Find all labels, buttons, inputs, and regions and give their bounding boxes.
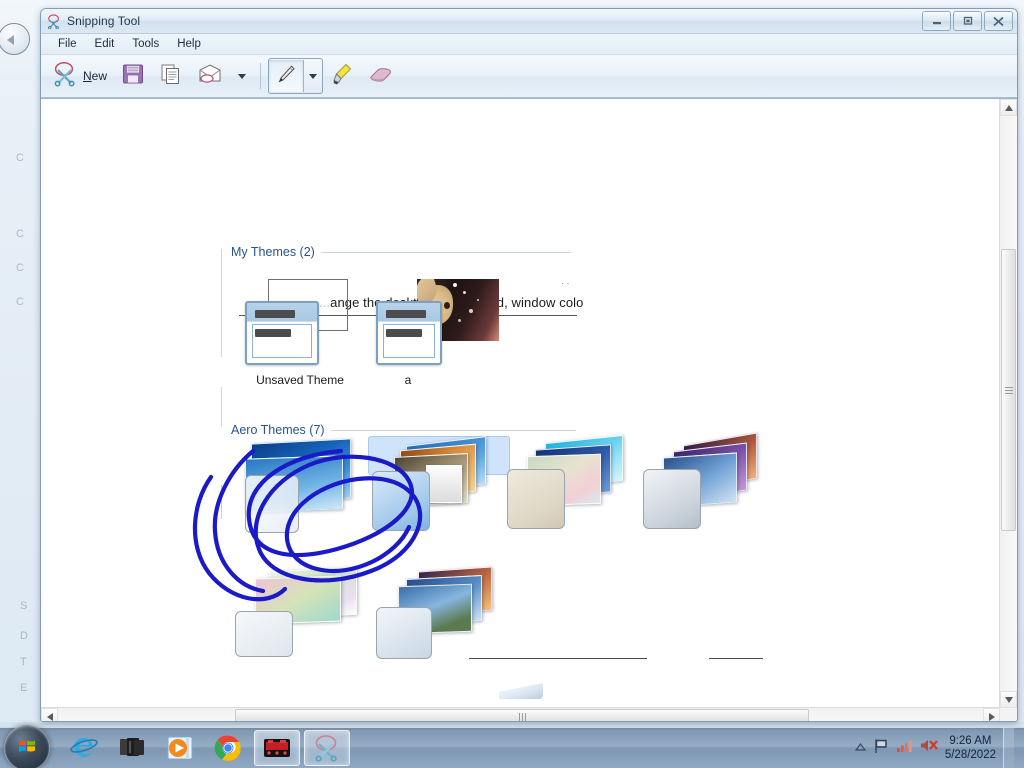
menu-item-help[interactable]: Help — [168, 36, 210, 52]
theme-tile-characters[interactable]: Characters — [507, 439, 639, 467]
pen-tool-group — [268, 58, 323, 94]
snipping-tool-window[interactable]: Snipping Tool File Edit Tools Help — [40, 8, 1018, 722]
action-center-flag-icon[interactable] — [873, 738, 889, 759]
chevron-down-icon — [309, 74, 317, 79]
canvas-area: ˙˙ ...ange the desktop background, windo… — [41, 98, 1017, 722]
highlighter-button[interactable] — [325, 58, 359, 94]
section-title-my-themes: My Themes (2) — [231, 245, 321, 259]
theme-thumbnail — [238, 275, 362, 367]
floppy-disk-icon — [121, 62, 145, 91]
volume-muted-icon[interactable] — [920, 738, 938, 758]
menu-bar: File Edit Tools Help — [41, 34, 1017, 55]
theme-label-unsaved: Unsaved Theme — [238, 373, 362, 387]
taskbar-clock[interactable]: 9:26 AM 5/28/2022 — [945, 734, 996, 762]
show-desktop-button[interactable] — [1003, 728, 1014, 768]
theme-thumbnail — [507, 439, 631, 531]
media-player-icon — [165, 734, 195, 762]
send-snip-dropdown[interactable] — [231, 58, 253, 94]
title-bar[interactable]: Snipping Tool — [41, 9, 1017, 34]
chevron-down-icon — [238, 74, 246, 79]
captured-image: ˙˙ ...ange the desktop background, windo… — [41, 99, 1000, 708]
capture-bottom-shape — [499, 683, 543, 699]
theme-front-card — [643, 469, 701, 529]
eraser-button[interactable] — [361, 58, 401, 94]
theme-thumbnail — [372, 441, 496, 533]
system-tray: 9:26 AM 5/28/2022 — [855, 728, 1022, 768]
show-hidden-icons-button[interactable] — [855, 739, 866, 757]
network-signal-icon[interactable] — [896, 738, 913, 758]
red-app-icon — [261, 736, 293, 760]
copy-button[interactable] — [153, 58, 189, 94]
taskbar-windows-media-player[interactable] — [158, 731, 202, 765]
taskbar-app-buttons — [62, 730, 350, 766]
theme-thumbnail — [376, 569, 500, 661]
capture-bottom-rule-1 — [469, 658, 647, 659]
section-left-bar-my-themes — [221, 249, 222, 357]
new-snip-button[interactable]: New — [47, 58, 113, 94]
taskbar-snipping-tool[interactable] — [304, 730, 350, 766]
section-title-aero-themes: Aero Themes (7) — [231, 423, 331, 437]
theme-tile-architecture[interactable]: Architecture — [368, 436, 510, 475]
close-button[interactable] — [984, 11, 1013, 31]
folder-stack-icon — [116, 735, 148, 761]
clock-time: 9:26 AM — [945, 734, 996, 748]
theme-label-a: a — [378, 373, 438, 387]
section-left-bar-my-themes-2 — [221, 387, 222, 427]
taskbar-windows-explorer[interactable] — [110, 731, 154, 765]
scroll-left-button[interactable] — [41, 708, 58, 722]
horizontal-scroll-thumb[interactable] — [235, 709, 809, 722]
theme-thumbnail — [374, 275, 498, 367]
window-controls — [922, 11, 1013, 31]
copy-pages-icon — [159, 62, 183, 91]
window-glyph-icon — [376, 301, 442, 365]
snipping-tool-scissors-icon — [312, 734, 342, 762]
maximize-button[interactable] — [953, 11, 982, 31]
toolbar: New — [41, 55, 1017, 98]
internet-explorer-icon — [69, 734, 99, 762]
highlighter-icon — [331, 62, 353, 91]
window-glyph-inner — [252, 324, 312, 358]
taskbar-google-chrome[interactable] — [206, 731, 250, 765]
scroll-up-button[interactable] — [1000, 99, 1017, 116]
menu-item-tools[interactable]: Tools — [123, 36, 168, 52]
snipping-tool-scissors-icon — [47, 14, 62, 29]
save-snip-button[interactable] — [115, 58, 151, 94]
theme-front-card — [372, 471, 430, 531]
send-snip-button[interactable] — [191, 58, 229, 94]
pen-icon — [275, 63, 297, 90]
theme-thumbnail — [241, 569, 365, 661]
taskbar-red-app[interactable] — [254, 730, 300, 766]
theme-tile-windows-7[interactable]: ws 7 — [241, 439, 373, 475]
theme-tile-landscapes[interactable]: Landscapes — [643, 439, 775, 467]
capture-bottom-rule-2 — [709, 658, 763, 659]
envelope-icon — [197, 62, 223, 91]
taskbar-internet-explorer[interactable] — [62, 731, 106, 765]
window-glyph-inner — [383, 324, 435, 358]
taskbar: 9:26 AM 5/28/2022 — [0, 727, 1024, 768]
pen-button[interactable] — [269, 60, 304, 92]
scroll-right-button[interactable] — [983, 708, 1000, 722]
theme-thumbnail — [643, 439, 767, 531]
theme-front-card — [376, 607, 432, 659]
menu-item-edit[interactable]: Edit — [86, 36, 124, 52]
photo-sheet — [426, 465, 462, 503]
toolbar-separator — [260, 63, 261, 89]
screen: C C C C S D T E picture Snipping Tool — [0, 0, 1024, 768]
window-glyph-icon — [245, 301, 319, 365]
scroll-thumb-grip — [519, 713, 526, 721]
back-arrow-icon — [7, 35, 14, 45]
window-title: Snipping Tool — [67, 14, 140, 28]
pen-dropdown[interactable] — [304, 60, 322, 92]
menu-item-file[interactable]: File — [49, 36, 86, 52]
scroll-thumb-grip — [1005, 387, 1013, 394]
scrollbar-corner — [1000, 708, 1017, 722]
capture-artifact-dots: ˙˙ — [561, 282, 572, 294]
theme-front-card — [245, 475, 299, 533]
theme-tile-unsaved[interactable]: Unsaved Theme — [238, 275, 370, 387]
theme-tile-a[interactable]: a — [374, 275, 506, 387]
chrome-icon — [214, 734, 242, 762]
theme-front-card — [235, 611, 293, 657]
section-my-themes: My Themes (2) — [231, 243, 571, 261]
vertical-scrollbar[interactable] — [999, 99, 1017, 708]
horizontal-scrollbar[interactable] — [41, 707, 1000, 722]
capture-left-tick — [221, 497, 222, 511]
minimize-button[interactable] — [922, 11, 951, 31]
start-button[interactable] — [4, 725, 50, 768]
scissors-icon — [53, 61, 79, 92]
pen-ink-scribble — [41, 99, 1000, 708]
clock-date: 5/28/2022 — [945, 748, 996, 762]
scroll-down-button[interactable] — [1000, 691, 1017, 708]
snip-canvas[interactable]: ˙˙ ...ange the desktop background, windo… — [41, 99, 1000, 708]
eraser-icon — [367, 63, 395, 90]
background-window-sidebar — [0, 95, 34, 662]
windows-logo-icon — [16, 735, 38, 762]
vertical-scroll-thumb[interactable] — [1001, 249, 1016, 531]
new-snip-label: New — [83, 69, 107, 83]
theme-front-card — [507, 469, 565, 529]
theme-thumbnail — [241, 439, 365, 531]
